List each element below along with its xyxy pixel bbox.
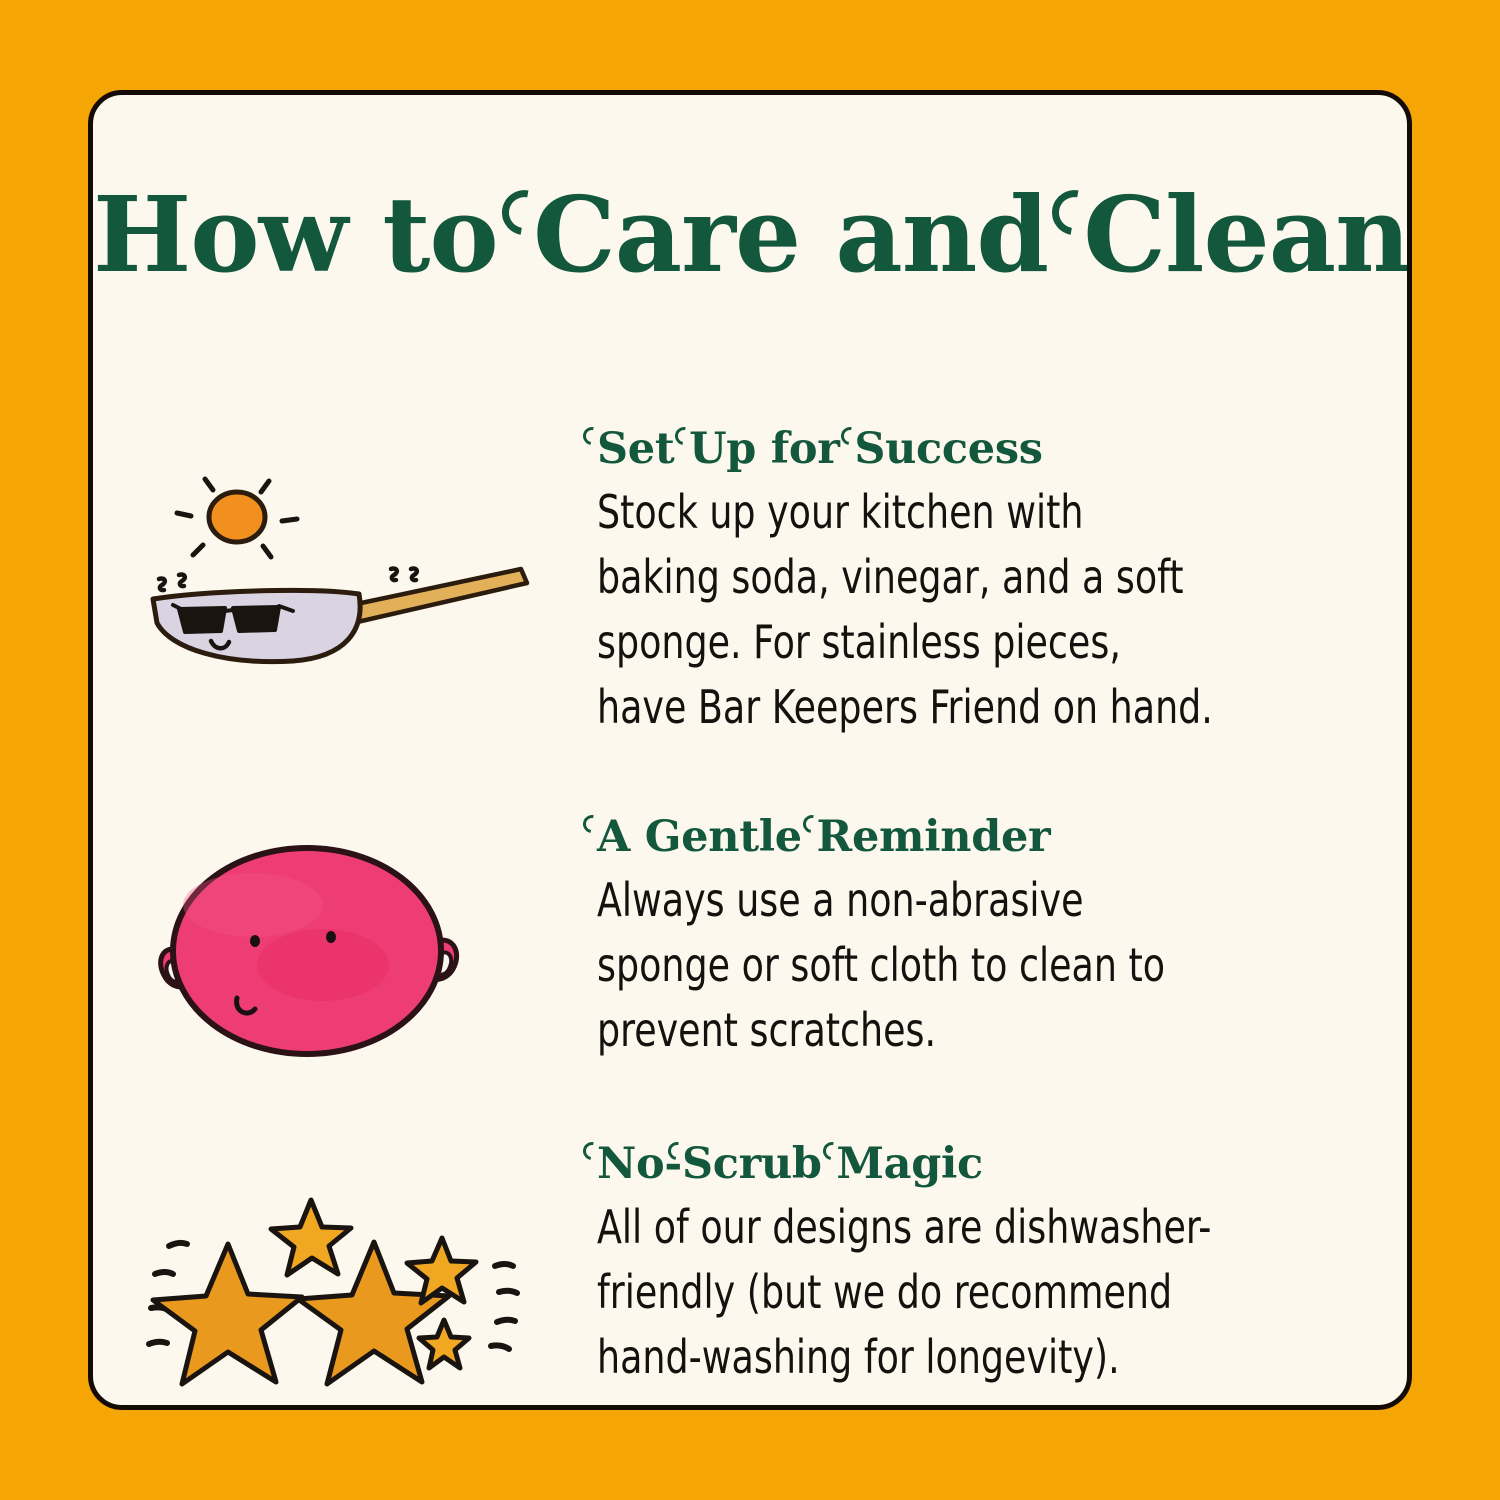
body-line: Always use a non-abrasive: [597, 868, 1369, 933]
heading-swash-m: M: [836, 1140, 883, 1189]
body-line: sponge. For stainless pieces,: [597, 610, 1369, 675]
heading-swash-s: S: [597, 425, 628, 474]
heading-seg-2: p for: [726, 424, 854, 474]
body-line: have Bar Keepers Friend on hand.: [597, 675, 1369, 740]
heading-seg-1: Gentle: [630, 812, 816, 862]
title-swash-c2: C: [1083, 183, 1165, 287]
care-copy-1: Set Up for Success Stock up your kitchen…: [597, 425, 1367, 740]
care-body-1: Stock up your kitchen with baking soda, …: [597, 480, 1369, 740]
title-segment-2: are and: [615, 173, 1083, 296]
care-body-2: Always use a non-abrasive sponge or soft…: [597, 868, 1369, 1063]
heading-swash-u: U: [689, 425, 726, 474]
body-line: baking soda, vinegar, and a soft: [597, 545, 1369, 610]
body-line: Stock up your kitchen with: [597, 480, 1369, 545]
body-line: All of our designs are dishwasher-: [597, 1195, 1369, 1260]
body-line: friendly (but we do recommend: [597, 1260, 1369, 1325]
heading-seg-2: eminder: [852, 812, 1050, 862]
page-title: How to Care and Clean: [93, 183, 1407, 287]
frying-pan-with-sunglasses-icon: [133, 451, 553, 711]
care-and-clean-card: How to Care and Clean: [88, 90, 1412, 1410]
heading-seg-3: agic: [884, 1139, 983, 1189]
heading-swash-n: N: [597, 1140, 636, 1189]
care-heading-1: Set Up for Success: [597, 425, 1367, 474]
body-line: hand-washing for longevity).: [597, 1325, 1369, 1390]
care-body-3: All of our designs are dishwasher- frien…: [597, 1195, 1369, 1390]
sparkle-stars-icon: [133, 1186, 553, 1410]
pink-sponge-face-icon: [133, 823, 553, 1083]
heading-swash-a: A: [597, 813, 630, 862]
care-copy-3: No-Scrub Magic All of our designs are di…: [597, 1140, 1367, 1390]
title-swash-c1: C: [533, 183, 615, 287]
title-segment-3: lean: [1165, 173, 1410, 296]
body-line: sponge or soft cloth to clean to: [597, 933, 1369, 998]
heading-seg-3: uccess: [885, 424, 1043, 474]
care-heading-3: No-Scrub Magic: [597, 1140, 1367, 1189]
title-swash-h: H: [93, 183, 190, 287]
heading-swash-r: R: [817, 813, 852, 862]
heading-seg-2: crub: [713, 1139, 837, 1189]
heading-swash-s2: S: [854, 425, 885, 474]
care-heading-2: A Gentle Reminder: [597, 813, 1367, 862]
body-line: prevent scratches.: [597, 998, 1369, 1063]
title-segment-1: ow to: [190, 173, 533, 296]
heading-swash-s: S: [682, 1140, 713, 1189]
care-copy-2: A Gentle Reminder Always use a non-abras…: [597, 813, 1367, 1063]
